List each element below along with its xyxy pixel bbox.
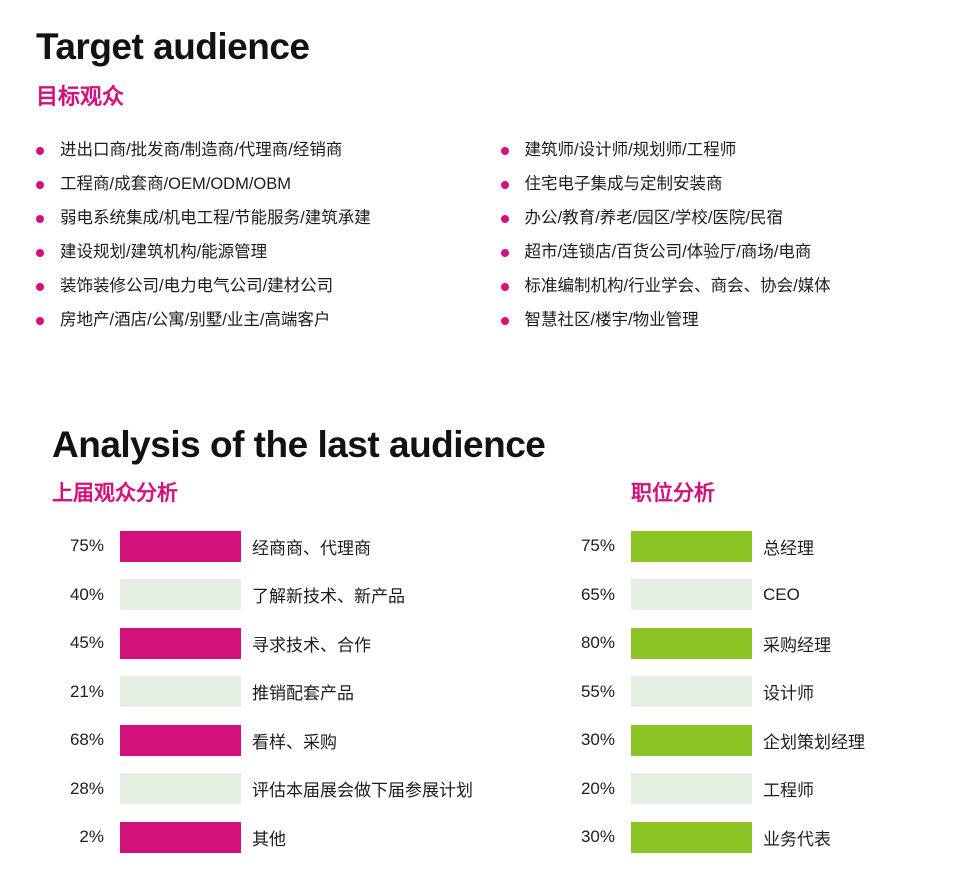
bar-fill <box>120 822 241 853</box>
list-item-label: 智慧社区/楼宇/物业管理 <box>525 308 699 332</box>
list-item-label: 住宅电子集成与定制安装商 <box>525 172 723 196</box>
bar-category-label: 寻求技术、合作 <box>241 631 371 656</box>
list-item: 智慧社区/楼宇/物业管理 <box>501 308 965 342</box>
bar-row: 30%业务代表 <box>557 813 865 862</box>
bar-value-label: 55% <box>557 682 631 702</box>
bar-fill <box>631 822 752 853</box>
bar-row: 21%推销配套产品 <box>46 668 473 717</box>
bar-row: 65%CEO <box>557 571 865 620</box>
list-item-label: 房地产/酒店/公寓/别墅/业主/高端客户 <box>60 308 330 332</box>
list-item: 超市/连锁店/百货公司/体验厅/商场/电商 <box>501 240 965 274</box>
bar-row: 45%寻求技术、合作 <box>46 619 473 668</box>
bullet-dot-icon <box>36 181 44 189</box>
bar-category-label: 其他 <box>241 825 286 850</box>
bar-value-label: 21% <box>46 682 120 702</box>
bar-fill <box>120 773 241 804</box>
bullet-dot-icon <box>501 215 509 223</box>
bullet-dot-icon <box>501 181 509 189</box>
bar-row: 75%经商商、代理商 <box>46 522 473 571</box>
list-item-label: 办公/教育/养老/园区/学校/医院/民宿 <box>525 206 784 230</box>
bar-value-label: 20% <box>557 779 631 799</box>
bullet-dot-icon <box>501 249 509 257</box>
bar-category-label: 工程师 <box>752 776 814 801</box>
bar-row: 80%采购经理 <box>557 619 865 668</box>
list-item: 建设规划/建筑机构/能源管理 <box>36 240 501 274</box>
bar-row: 55%设计师 <box>557 668 865 717</box>
bar-fill <box>631 773 752 804</box>
audience-bullet-columns: 进出口商/批发商/制造商/代理商/经销商 工程商/成套商/OEM/ODM/OBM… <box>0 138 965 342</box>
bar-category-label: 设计师 <box>752 679 814 704</box>
bar-value-label: 40% <box>46 585 120 605</box>
audience-column-right: 建筑师/设计师/规划师/工程师 住宅电子集成与定制安装商 办公/教育/养老/园区… <box>501 138 965 342</box>
list-item: 标准编制机构/行业学会、商会、协会/媒体 <box>501 274 965 308</box>
analysis-subtitle-right: 职位分析 <box>631 477 715 507</box>
bar-value-label: 2% <box>46 827 120 847</box>
bullet-dot-icon <box>36 317 44 325</box>
bar-category-label: 总经理 <box>752 534 814 559</box>
list-item-label: 进出口商/批发商/制造商/代理商/经销商 <box>60 138 342 162</box>
bar-row: 2%其他 <box>46 813 473 862</box>
bullet-dot-icon <box>501 147 509 155</box>
bar-category-label: 业务代表 <box>752 825 831 850</box>
analysis-title: Analysis of the last audience <box>52 424 545 466</box>
page-subtitle: 目标观众 <box>36 79 124 111</box>
bar-fill <box>631 531 752 562</box>
bar-fill <box>631 579 752 610</box>
bullet-dot-icon <box>36 249 44 257</box>
bar-category-label: 看样、采购 <box>241 728 337 753</box>
list-item-label: 装饰装修公司/电力电气公司/建材公司 <box>60 274 333 298</box>
bar-value-label: 45% <box>46 633 120 653</box>
list-item-label: 建设规划/建筑机构/能源管理 <box>60 240 267 264</box>
bar-category-label: 评估本届展会做下届参展计划 <box>241 776 473 801</box>
list-item: 进出口商/批发商/制造商/代理商/经销商 <box>36 138 501 172</box>
list-item: 建筑师/设计师/规划师/工程师 <box>501 138 965 172</box>
chart-position-analysis: 75%总经理65%CEO80%采购经理55%设计师30%企划策划经理20%工程师… <box>557 522 865 862</box>
bullet-dot-icon <box>36 147 44 155</box>
bar-fill <box>631 628 752 659</box>
bar-fill <box>120 676 241 707</box>
list-item: 住宅电子集成与定制安装商 <box>501 172 965 206</box>
list-item: 工程商/成套商/OEM/ODM/OBM <box>36 172 501 206</box>
bar-row: 20%工程师 <box>557 765 865 814</box>
bar-category-label: 经商商、代理商 <box>241 534 371 559</box>
bar-value-label: 30% <box>557 730 631 750</box>
bar-value-label: 65% <box>557 585 631 605</box>
bar-value-label: 28% <box>46 779 120 799</box>
list-item: 弱电系统集成/机电工程/节能服务/建筑承建 <box>36 206 501 240</box>
bar-row: 75%总经理 <box>557 522 865 571</box>
bar-value-label: 68% <box>46 730 120 750</box>
bar-value-label: 30% <box>557 827 631 847</box>
audience-column-left: 进出口商/批发商/制造商/代理商/经销商 工程商/成套商/OEM/ODM/OBM… <box>36 138 501 342</box>
list-item-label: 超市/连锁店/百货公司/体验厅/商场/电商 <box>525 240 812 264</box>
analysis-subtitle-left: 上届观众分析 <box>52 477 178 507</box>
bar-category-label: 了解新技术、新产品 <box>241 582 405 607</box>
bar-fill <box>631 725 752 756</box>
bar-fill <box>120 579 241 610</box>
list-item: 装饰装修公司/电力电气公司/建材公司 <box>36 274 501 308</box>
bullet-dot-icon <box>36 283 44 291</box>
bar-category-label: 推销配套产品 <box>241 679 354 704</box>
bar-row: 30%企划策划经理 <box>557 716 865 765</box>
bar-fill <box>631 676 752 707</box>
list-item-label: 标准编制机构/行业学会、商会、协会/媒体 <box>525 274 831 298</box>
bullet-dot-icon <box>501 283 509 291</box>
list-item: 办公/教育/养老/园区/学校/医院/民宿 <box>501 206 965 240</box>
bar-row: 68%看样、采购 <box>46 716 473 765</box>
page-title: Target audience <box>36 26 310 68</box>
list-item-label: 建筑师/设计师/规划师/工程师 <box>525 138 737 162</box>
list-item-label: 弱电系统集成/机电工程/节能服务/建筑承建 <box>60 206 371 230</box>
bar-value-label: 80% <box>557 633 631 653</box>
bar-fill <box>120 628 241 659</box>
bar-category-label: 采购经理 <box>752 631 831 656</box>
bar-row: 40%了解新技术、新产品 <box>46 571 473 620</box>
chart-audience-analysis: 75%经商商、代理商40%了解新技术、新产品45%寻求技术、合作21%推销配套产… <box>46 522 473 862</box>
bar-row: 28%评估本届展会做下届参展计划 <box>46 765 473 814</box>
list-item: 房地产/酒店/公寓/别墅/业主/高端客户 <box>36 308 501 342</box>
bar-category-label: CEO <box>752 585 800 605</box>
list-item-label: 工程商/成套商/OEM/ODM/OBM <box>60 172 291 196</box>
bar-fill <box>120 531 241 562</box>
bar-value-label: 75% <box>46 536 120 556</box>
bar-fill <box>120 725 241 756</box>
bullet-dot-icon <box>501 317 509 325</box>
bar-category-label: 企划策划经理 <box>752 728 865 753</box>
bar-value-label: 75% <box>557 536 631 556</box>
bullet-dot-icon <box>36 215 44 223</box>
